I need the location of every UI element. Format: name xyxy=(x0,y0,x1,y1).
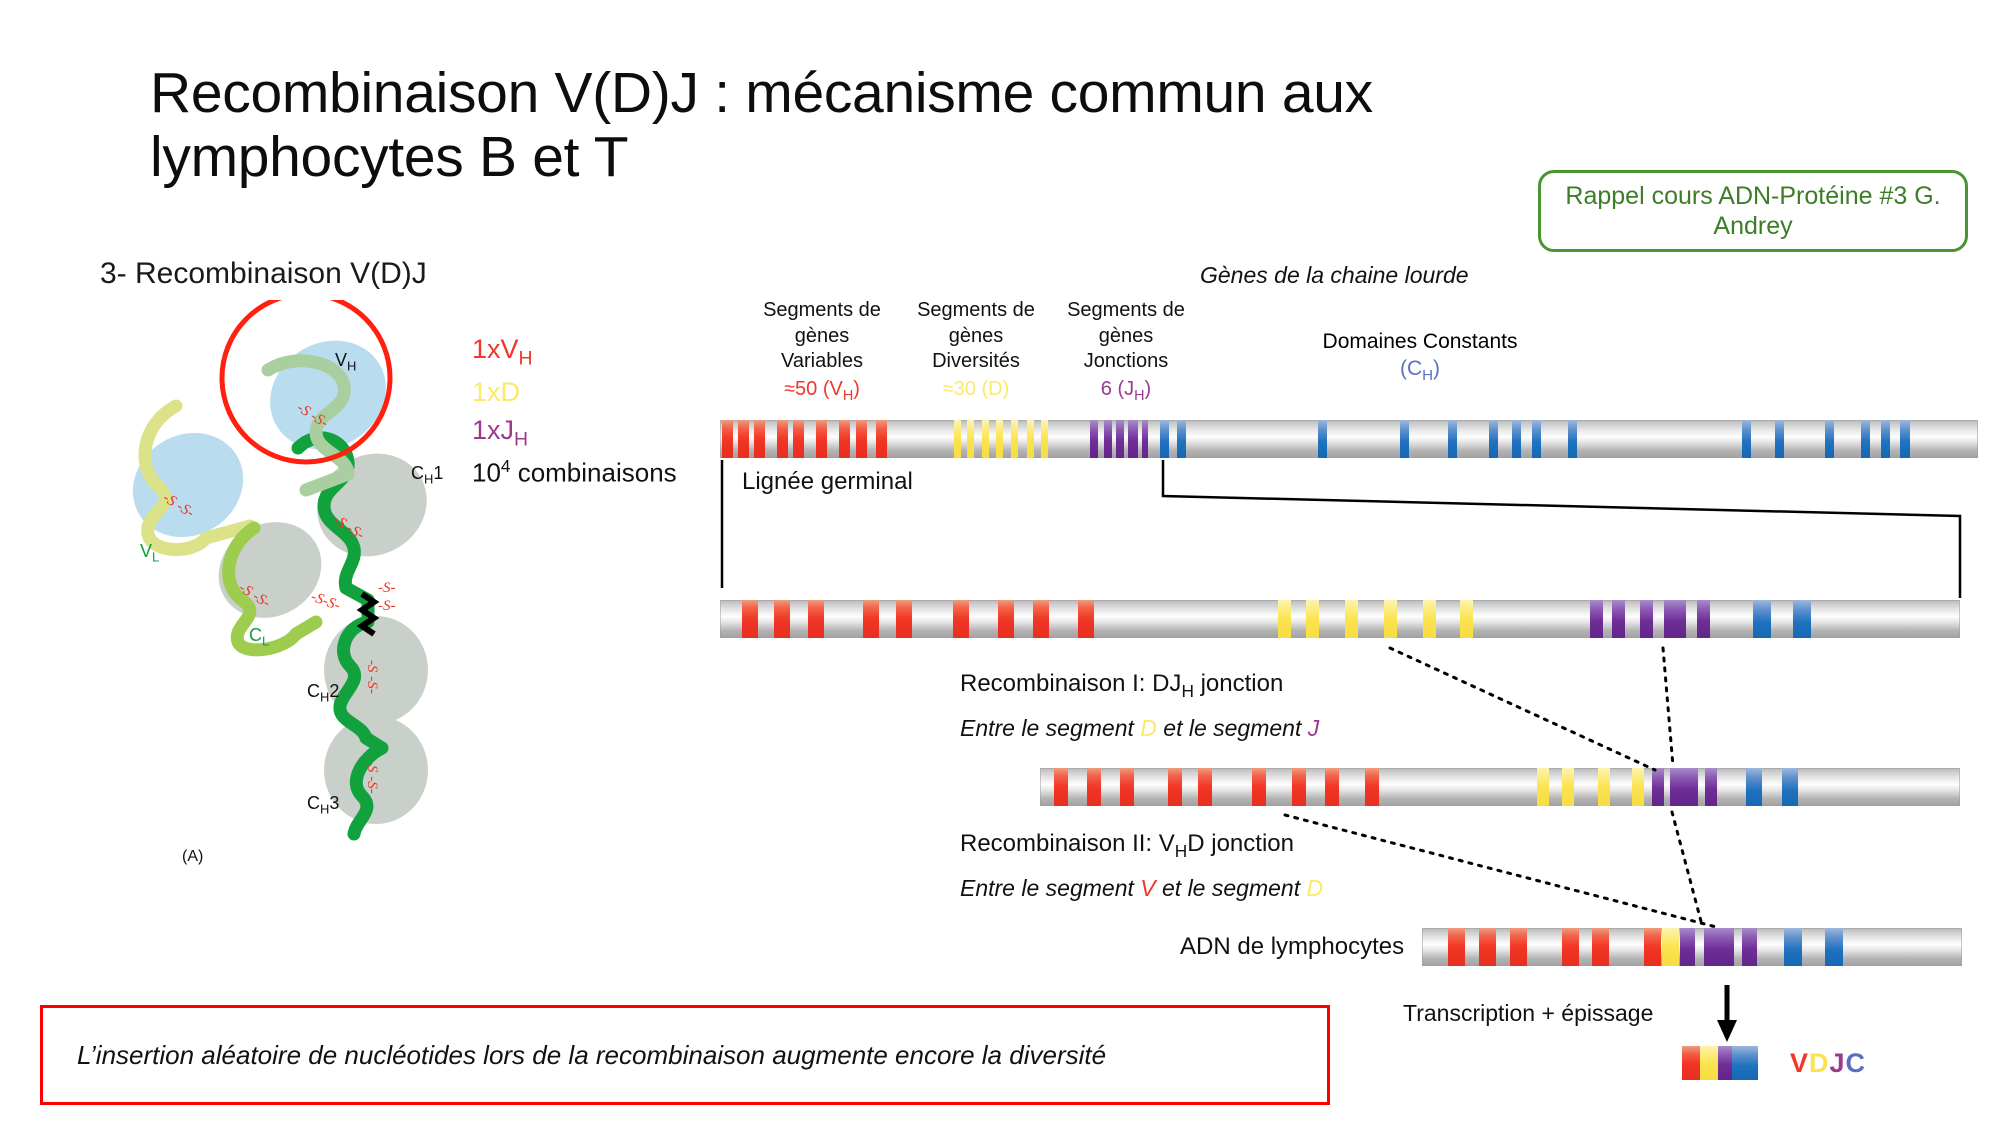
dna-segment-purple xyxy=(1664,600,1686,638)
dna-segment-yellow xyxy=(954,420,961,458)
vdjc-product-label: VDJC xyxy=(1790,1048,1866,1079)
recall-callout-box: Rappel cours ADN-Protéine #3 G. Andrey xyxy=(1538,170,1968,252)
dna-segment-yellow xyxy=(1598,768,1610,806)
dna-segment-purple xyxy=(1652,768,1664,806)
dna-segment-yellow xyxy=(1306,600,1319,638)
dna-segment-red xyxy=(1252,768,1266,806)
dna-segment-blue xyxy=(1793,600,1811,638)
dna-segment-purple xyxy=(1116,420,1124,458)
dna-segment-blue xyxy=(1775,420,1784,458)
label-ch1: CH1 xyxy=(411,463,443,487)
dna-segment-red xyxy=(1592,928,1609,966)
svg-text:-S-: -S- xyxy=(378,580,396,596)
label-ch2: CH2 xyxy=(307,681,339,705)
dna-segment-purple xyxy=(1670,768,1698,806)
dna-segment-red xyxy=(1168,768,1182,806)
step1-detail: Entre le segment D et le segment J xyxy=(960,715,1319,742)
product-segment-yellow xyxy=(1700,1046,1718,1080)
recall-callout-text: Rappel cours ADN-Protéine #3 G. Andrey xyxy=(1551,181,1955,241)
dna-segment-red xyxy=(1292,768,1306,806)
dna-segment-yellow xyxy=(1345,600,1358,638)
dna-segment-blue xyxy=(1900,420,1910,458)
dna-segment-yellow xyxy=(1041,420,1048,458)
dna-segment-purple xyxy=(1104,420,1112,458)
dna-segment-yellow xyxy=(1562,768,1574,806)
lymphocyte-dna-label: ADN de lymphocytes xyxy=(1180,933,1404,961)
heavy-chain-genes-title: Gènes de la chaine lourde xyxy=(1200,262,1469,289)
dna-segment-blue xyxy=(1568,420,1577,458)
svg-text:-S-S-: -S-S- xyxy=(309,589,343,614)
dna-segment-purple xyxy=(1705,768,1717,806)
dna-segment-purple xyxy=(1090,420,1098,458)
column-count-diversity: ≈30 (D) xyxy=(900,377,1052,403)
dna-bar-germline xyxy=(720,420,1978,458)
dna-segment-yellow xyxy=(1027,420,1034,458)
label-vh: VH xyxy=(335,350,356,374)
dna-segment-red xyxy=(816,420,827,458)
column-head-diversity: Segments de gènes Diversités ≈30 (D) xyxy=(900,298,1052,402)
dna-segment-yellow xyxy=(982,420,989,458)
dna-segment-blue xyxy=(1746,768,1762,806)
svg-text:-S -S-: -S -S- xyxy=(364,660,380,694)
dna-segment-red xyxy=(777,420,788,458)
dna-segment-red xyxy=(863,600,879,638)
product-segment-red xyxy=(1682,1046,1700,1080)
transcription-label: Transcription + épissage xyxy=(1403,1000,1653,1027)
dna-segment-blue xyxy=(1784,928,1802,966)
dna-segment-purple xyxy=(1142,420,1148,458)
dna-segment-red xyxy=(1479,928,1496,966)
dna-segment-red xyxy=(774,600,790,638)
dna-segment-blue xyxy=(1177,420,1186,458)
vdjc-product-bar xyxy=(1682,1046,1758,1080)
step2-detail: Entre le segment V et le segment D xyxy=(960,875,1323,902)
dna-segment-red xyxy=(1448,928,1465,966)
dna-segment-red xyxy=(793,420,804,458)
combo-item-v: 1xVH xyxy=(472,330,677,373)
constant-domains-symbol: (CH) xyxy=(1400,357,1440,380)
combo-item-d: 1xD xyxy=(472,373,677,411)
dna-segment-blue xyxy=(1782,768,1798,806)
dna-segment-blue xyxy=(1825,420,1834,458)
dna-segment-red xyxy=(1033,600,1049,638)
svg-text:-S-: -S- xyxy=(378,598,396,614)
step1-title: Recombinaison I: DJH jonction xyxy=(960,670,1283,702)
antibody-diagram: -S -S- -S -S- -S -S- -S -S- -S-S- -S- -S… xyxy=(110,300,480,860)
dna-segment-red xyxy=(1325,768,1339,806)
product-segment-blue xyxy=(1732,1046,1758,1080)
label-ch3: CH3 xyxy=(307,793,339,817)
dna-segment-red xyxy=(754,420,765,458)
dna-segment-red xyxy=(856,420,867,458)
dna-segment-yellow xyxy=(1460,600,1473,638)
dna-segment-yellow xyxy=(967,420,974,458)
dna-segment-blue xyxy=(1489,420,1498,458)
dna-segment-blue xyxy=(1861,420,1870,458)
dna-segment-red xyxy=(839,420,850,458)
dna-segment-red xyxy=(722,420,733,458)
dna-segment-yellow xyxy=(1537,768,1549,806)
dna-segment-purple xyxy=(1697,600,1710,638)
label-vl: VL xyxy=(140,541,159,565)
dna-segment-blue xyxy=(1753,600,1771,638)
dna-segment-yellow xyxy=(1632,768,1644,806)
column-head-variable: Segments de gènes Variables ≈50 (VH) xyxy=(742,298,902,405)
dna-segment-red xyxy=(738,420,749,458)
dna-segment-red xyxy=(953,600,969,638)
dna-segment-purple xyxy=(1128,420,1138,458)
page-title: Recombinaison V(D)J : mécanisme commun a… xyxy=(150,62,1550,190)
dna-segment-red xyxy=(876,420,887,458)
dna-segment-purple xyxy=(1704,928,1734,966)
dna-segment-red xyxy=(998,600,1014,638)
dna-segment-blue xyxy=(1825,928,1843,966)
combo-item-j: 1xJH xyxy=(472,411,677,454)
dna-segment-yellow xyxy=(1011,420,1018,458)
section-subtitle: 3- Recombinaison V(D)J xyxy=(100,257,427,291)
dna-segment-blue xyxy=(1400,420,1409,458)
dna-segment-yellow xyxy=(1278,600,1291,638)
dna-segment-purple xyxy=(1590,600,1603,638)
dna-segment-red xyxy=(1078,600,1094,638)
insertion-note-box: L’insertion aléatoire de nucléotides lor… xyxy=(40,1005,1330,1105)
dna-segment-red xyxy=(1087,768,1101,806)
dna-bar-lymphocyte xyxy=(1422,928,1962,966)
dna-segment-red xyxy=(1510,928,1527,966)
column-head-junction: Segments de gènes Jonctions 6 (JH) xyxy=(1050,298,1202,405)
dna-segment-blue xyxy=(1318,420,1327,458)
combination-legend: 1xVH 1xD 1xJH 104 combinaisons xyxy=(472,330,677,492)
dna-segment-red xyxy=(1365,768,1379,806)
dna-segment-blue xyxy=(1742,420,1751,458)
dna-segment-blue xyxy=(1160,420,1169,458)
dna-segment-red xyxy=(1120,768,1134,806)
dna-segment-red xyxy=(1562,928,1579,966)
product-segment-purple xyxy=(1718,1046,1732,1080)
dna-segment-red xyxy=(742,600,758,638)
dna-segment-blue xyxy=(1448,420,1457,458)
dna-segment-red xyxy=(808,600,824,638)
dna-segment-blue xyxy=(1512,420,1521,458)
dna-segment-purple xyxy=(1640,600,1653,638)
dna-segment-red xyxy=(1198,768,1212,806)
dna-segment-blue xyxy=(1532,420,1541,458)
dna-bar-expanded-region xyxy=(720,600,1960,638)
dna-segment-red xyxy=(896,600,912,638)
dna-segment-red xyxy=(1054,768,1068,806)
dna-segment-red xyxy=(1644,928,1661,966)
dna-segment-purple xyxy=(1742,928,1757,966)
dna-segment-purple xyxy=(1612,600,1625,638)
dna-segment-yellow xyxy=(1423,600,1436,638)
column-count-junction: 6 (JH) xyxy=(1050,377,1202,405)
dna-segment-yellow xyxy=(1662,928,1679,966)
insertion-note-text: L’insertion aléatoire de nucléotides lor… xyxy=(77,1038,1106,1072)
combo-total: 104 combinaisons xyxy=(472,454,677,492)
dna-segment-yellow xyxy=(996,420,1003,458)
step2-title: Recombinaison II: VHD jonction xyxy=(960,830,1294,862)
dna-segment-yellow xyxy=(1384,600,1397,638)
panel-letter: (A) xyxy=(182,848,203,866)
dna-segment-blue xyxy=(1881,420,1890,458)
constant-domains-head: Domaines Constants (CH) xyxy=(1190,328,1650,386)
column-count-variable: ≈50 (VH) xyxy=(742,377,902,405)
dna-segment-purple xyxy=(1680,928,1695,966)
germline-label: Lignée germinal xyxy=(742,468,913,496)
label-cl: CL xyxy=(249,625,269,649)
svg-text:-S -S-: -S -S- xyxy=(364,760,380,794)
dna-bar-after-dj-recombination xyxy=(1040,768,1960,806)
